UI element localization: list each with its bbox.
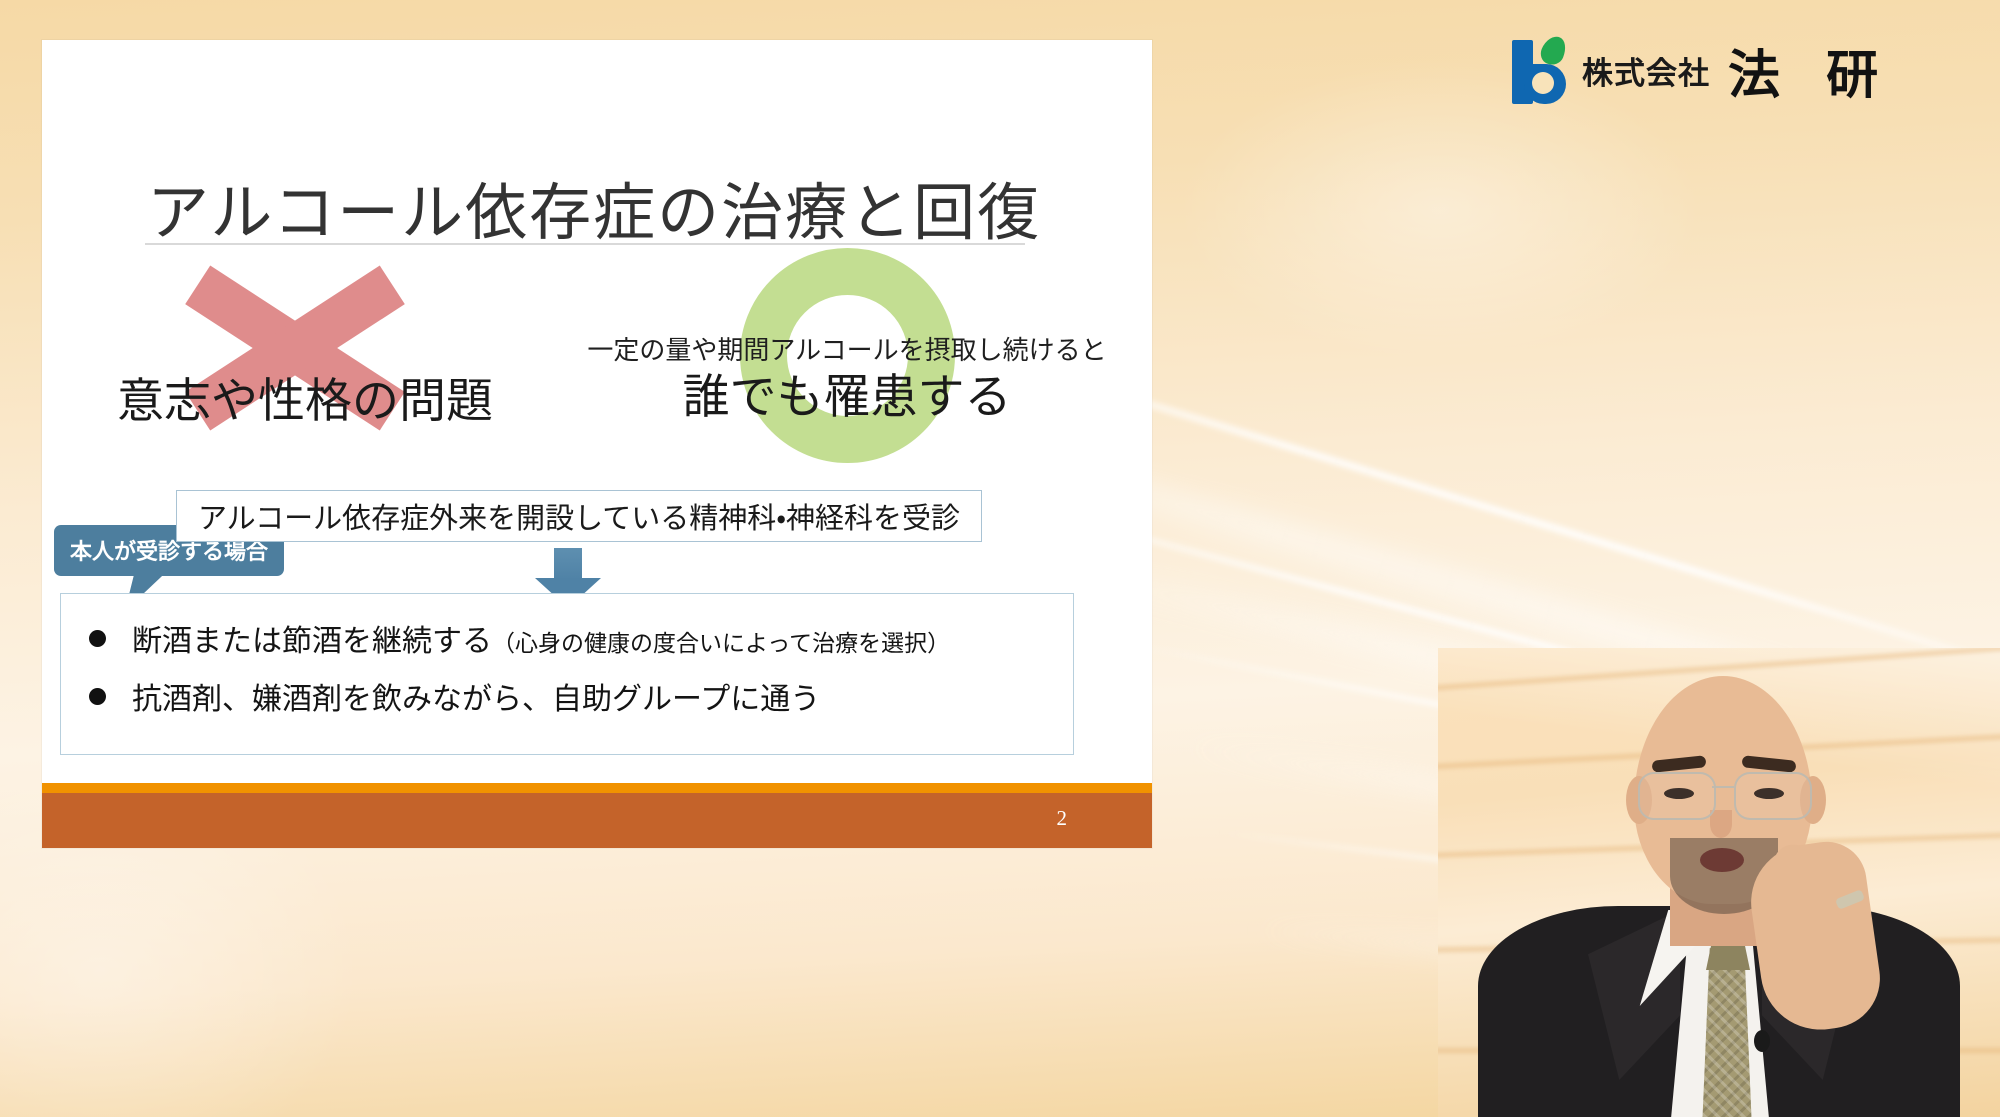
bullet-dot-icon bbox=[89, 688, 106, 705]
lapel-microphone-icon bbox=[1754, 1030, 1770, 1052]
glasses-icon bbox=[1634, 772, 1814, 818]
footer-accent-stripe bbox=[42, 783, 1152, 793]
logo-name: 法 研 bbox=[1728, 33, 1892, 108]
outcome-box: 断酒または節酒を継続する（心身の健康の度合いによって治療を選択） 抗酒剤、嫌酒剤… bbox=[60, 593, 1074, 755]
footer-bar: 2 bbox=[42, 793, 1152, 848]
presenter-mouth bbox=[1700, 848, 1744, 872]
page-number: 2 bbox=[1057, 806, 1068, 831]
logo-mark-icon bbox=[1510, 36, 1568, 104]
bullet-main-text: 断酒または節酒を継続する bbox=[132, 624, 492, 659]
slide-title: アルコール依存症の治療と回復 bbox=[147, 162, 1041, 252]
title-divider bbox=[145, 243, 1025, 245]
bullet-main-text: 抗酒剤、嫌酒剤を飲みながら、自助グループに通う bbox=[132, 682, 820, 717]
list-item: 抗酒剤、嫌酒剤を飲みながら、自助グループに通う bbox=[89, 674, 1073, 718]
left-block-label: 意志や性格の問題 bbox=[117, 362, 487, 431]
presenter-video bbox=[1438, 648, 2000, 1117]
logo-prefix: 株式会社 bbox=[1582, 48, 1710, 93]
bullet-note-text: （心身の健康の度合いによって治療を選択） bbox=[492, 631, 950, 657]
presentation-slide: アルコール依存症の治療と回復 意志や性格の問題 一定の量や期間アルコールを摂取し… bbox=[42, 40, 1152, 848]
referral-box: アルコール依存症外来を開設している精神科・神経科を受診 bbox=[176, 490, 982, 542]
screen: 株式会社 法 研 アルコール依存症の治療と回復 意志や性格の問題 一定の量や期間… bbox=[0, 0, 2000, 1117]
referral-box-text: アルコール依存症外来を開設している精神科・神経科を受診 bbox=[198, 495, 960, 537]
bullet-dot-icon bbox=[89, 630, 106, 647]
list-item: 断酒または節酒を継続する（心身の健康の度合いによって治療を選択） bbox=[89, 616, 1073, 660]
company-logo: 株式会社 法 研 bbox=[1510, 32, 1892, 108]
right-block-maintext: 誰でも罹患する bbox=[597, 358, 1097, 427]
